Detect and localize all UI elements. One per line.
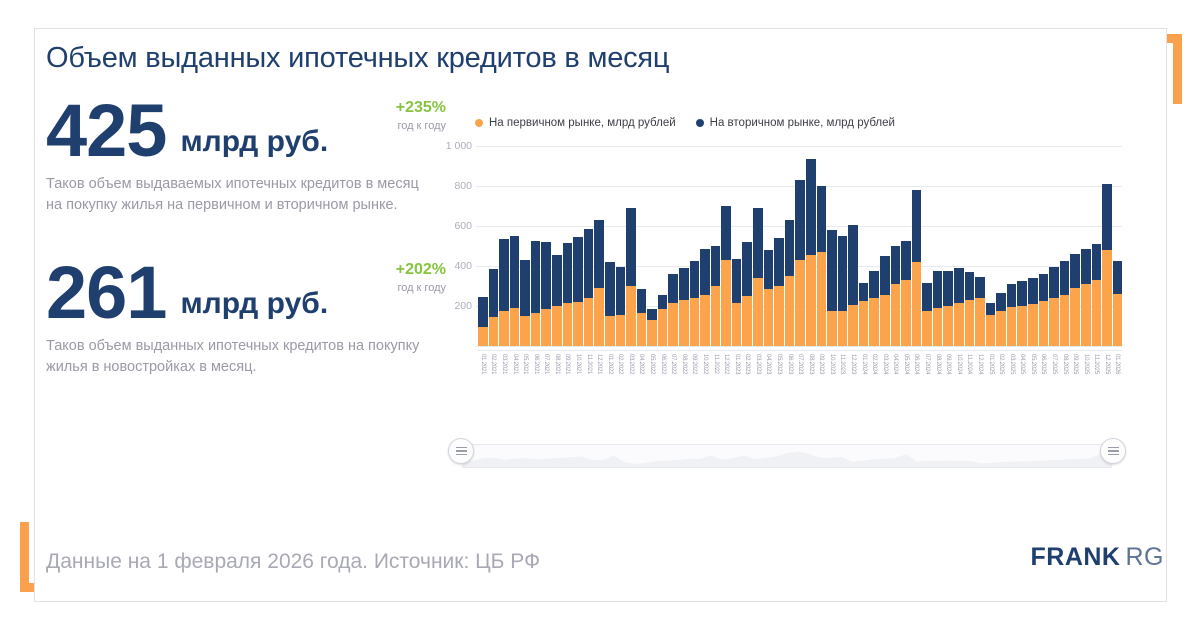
bar-column[interactable] bbox=[658, 295, 668, 346]
bar-segment-secondary-market bbox=[975, 277, 985, 298]
bar-column[interactable] bbox=[785, 220, 795, 346]
bar-segment-secondary-market bbox=[510, 236, 520, 308]
x-axis-tick: 08.2025 bbox=[1060, 354, 1070, 416]
bar-segment-primary-market bbox=[827, 311, 837, 346]
bar-column[interactable] bbox=[520, 260, 530, 346]
x-axis-tick: 04.2024 bbox=[891, 354, 901, 416]
bar-segment-secondary-market bbox=[922, 283, 932, 311]
bar-segment-primary-market bbox=[584, 298, 594, 346]
left-column: Объем выданных ипотечных кредитов в меся… bbox=[46, 42, 446, 377]
bar-column[interactable] bbox=[594, 220, 604, 346]
bar-segment-secondary-market bbox=[859, 283, 869, 301]
bar-column[interactable] bbox=[1060, 261, 1070, 346]
x-axis-tick: 12.2023 bbox=[848, 354, 858, 416]
bar-segment-secondary-market bbox=[1039, 274, 1049, 301]
bar-segment-primary-market bbox=[626, 286, 636, 346]
stat-value-total: 425 bbox=[46, 97, 166, 165]
bar-segment-secondary-market bbox=[986, 303, 996, 315]
bar-segment-secondary-market bbox=[478, 297, 488, 327]
stat-description-total: Таков объем выдаваемых ипотечных кредито… bbox=[46, 174, 428, 215]
legend-label: На первичном рынке, млрд рублей bbox=[489, 117, 676, 129]
bar-column[interactable] bbox=[1102, 184, 1112, 346]
bar-segment-primary-market bbox=[880, 295, 890, 346]
bar-segment-secondary-market bbox=[1028, 278, 1038, 304]
bar-column[interactable] bbox=[584, 229, 594, 346]
bar-segment-secondary-market bbox=[848, 225, 858, 305]
x-axis-tick: 02.2024 bbox=[869, 354, 879, 416]
bar-column[interactable] bbox=[996, 293, 1006, 346]
bar-segment-primary-market bbox=[721, 260, 731, 346]
bar-column[interactable] bbox=[541, 242, 551, 346]
bar-segment-primary-market bbox=[901, 280, 911, 346]
x-axis-tick: 11.2021 bbox=[584, 354, 594, 416]
bar-segment-primary-market bbox=[1081, 284, 1091, 346]
bar-column[interactable] bbox=[563, 243, 573, 346]
bar-segment-secondary-market bbox=[594, 220, 604, 288]
bar-segment-primary-market bbox=[986, 315, 996, 346]
bar-segment-secondary-market bbox=[647, 309, 657, 320]
stat-delta-percent-total: +235% bbox=[326, 99, 446, 117]
bar-column[interactable] bbox=[531, 241, 541, 346]
bar-segment-secondary-market bbox=[1102, 184, 1112, 250]
x-axis-tick: 02.2023 bbox=[742, 354, 752, 416]
legend-item-0[interactable]: На первичном рынке, млрд рублей bbox=[475, 117, 676, 129]
bar-segment-primary-market bbox=[954, 303, 964, 346]
x-axis-tick: 03.2025 bbox=[1007, 354, 1017, 416]
bar-segment-secondary-market bbox=[912, 190, 922, 262]
bar-segment-secondary-market bbox=[616, 267, 626, 315]
chart-panel: На первичном рынке, млрд рублейНа вторич… bbox=[440, 112, 1130, 492]
y-axis-tick-label: 400 bbox=[454, 260, 472, 272]
bar-column[interactable] bbox=[1049, 267, 1059, 346]
bar-segment-primary-market bbox=[1113, 294, 1123, 346]
bar-segment-secondary-market bbox=[943, 271, 953, 306]
x-axis-tick: 07.2022 bbox=[668, 354, 678, 416]
range-preview-sparkline bbox=[462, 445, 1112, 467]
frank-rg-logo: FRANKRG bbox=[1031, 543, 1165, 572]
x-axis-tick: 07.2023 bbox=[795, 354, 805, 416]
x-axis-tick: 06.2023 bbox=[785, 354, 795, 416]
bar-column[interactable] bbox=[933, 271, 943, 346]
x-axis-tick: 06.2025 bbox=[1039, 354, 1049, 416]
bar-segment-primary-market bbox=[838, 311, 848, 346]
bar-segment-secondary-market bbox=[1081, 249, 1091, 284]
bar-column[interactable] bbox=[817, 186, 827, 346]
bar-segment-primary-market bbox=[742, 296, 752, 346]
bar-segment-secondary-market bbox=[1017, 281, 1027, 306]
stat-delta-note-primary: год к году bbox=[326, 282, 446, 294]
bar-column[interactable] bbox=[711, 246, 721, 346]
page-title: Объем выданных ипотечных кредитов в меся… bbox=[46, 42, 446, 75]
bar-segment-primary-market bbox=[1007, 307, 1017, 346]
bar-segment-secondary-market bbox=[1113, 261, 1123, 294]
stat-block-primary: 261 млрд руб. +202% год к году Таков объ… bbox=[46, 259, 446, 377]
bar-column[interactable] bbox=[1017, 281, 1027, 346]
bar-column[interactable] bbox=[859, 283, 869, 346]
bar-segment-secondary-market bbox=[901, 241, 911, 280]
bar-segment-secondary-market bbox=[1070, 254, 1080, 288]
bar-segment-secondary-market bbox=[996, 293, 1006, 311]
bar-segment-secondary-market bbox=[753, 208, 763, 278]
bar-segment-primary-market bbox=[732, 303, 742, 346]
bar-segment-secondary-market bbox=[721, 206, 731, 260]
x-axis-tick: 09.2023 bbox=[817, 354, 827, 416]
x-axis-tick: 12.2022 bbox=[721, 354, 731, 416]
bar-segment-primary-market bbox=[616, 315, 626, 346]
bar-segment-secondary-market bbox=[965, 272, 975, 300]
x-axis-tick: 09.2025 bbox=[1070, 354, 1080, 416]
x-axis-tick: 10.2023 bbox=[827, 354, 837, 416]
x-axis-tick: 12.2025 bbox=[1102, 354, 1112, 416]
bar-segment-primary-market bbox=[996, 311, 1006, 346]
x-axis-tick: 01.2022 bbox=[605, 354, 615, 416]
bar-column[interactable] bbox=[848, 225, 858, 346]
bar-column[interactable] bbox=[901, 241, 911, 346]
bar-segment-secondary-market bbox=[838, 236, 848, 311]
bar-column[interactable] bbox=[986, 303, 996, 346]
bar-segment-primary-market bbox=[817, 252, 827, 346]
x-axis-tick: 01.2024 bbox=[859, 354, 869, 416]
stat-unit-total: млрд руб. bbox=[180, 125, 328, 165]
bar-column[interactable] bbox=[721, 206, 731, 346]
x-axis-tick: 11.2025 bbox=[1092, 354, 1102, 416]
x-axis-tick: 04.2021 bbox=[510, 354, 520, 416]
bar-segment-primary-market bbox=[848, 305, 858, 346]
x-axis-tick: 06.2022 bbox=[658, 354, 668, 416]
x-axis-tick: 06.2021 bbox=[531, 354, 541, 416]
bar-segment-primary-market bbox=[1060, 295, 1070, 346]
bar-segment-secondary-market bbox=[827, 230, 837, 311]
bar-column[interactable] bbox=[1092, 244, 1102, 346]
bar-segment-primary-market bbox=[1102, 250, 1112, 346]
x-axis-tick: 09.2022 bbox=[690, 354, 700, 416]
bar-column[interactable] bbox=[499, 239, 509, 346]
bar-column[interactable] bbox=[1007, 284, 1017, 346]
bar-segment-secondary-market bbox=[541, 242, 551, 309]
range-handle-left[interactable] bbox=[448, 438, 474, 464]
bar-column[interactable] bbox=[679, 268, 689, 346]
bar-column[interactable] bbox=[965, 272, 975, 346]
y-axis-tick-label: 1 000 bbox=[446, 140, 472, 152]
bar-column[interactable] bbox=[922, 283, 932, 346]
x-axis-tick: 07.2025 bbox=[1049, 354, 1059, 416]
bar-segment-secondary-market bbox=[700, 249, 710, 295]
bar-segment-secondary-market bbox=[764, 250, 774, 289]
footer-source-note: Данные на 1 февраля 2026 года. Источник:… bbox=[46, 550, 540, 574]
x-axis-tick: 10.2022 bbox=[700, 354, 710, 416]
bar-column[interactable] bbox=[637, 289, 647, 346]
bar-segment-primary-market bbox=[700, 295, 710, 346]
bar-column[interactable] bbox=[806, 159, 816, 346]
bar-segment-primary-market bbox=[912, 262, 922, 346]
bar-column[interactable] bbox=[668, 274, 678, 346]
bar-column[interactable] bbox=[573, 237, 583, 346]
x-axis-tick: 07.2024 bbox=[922, 354, 932, 416]
bar-column[interactable] bbox=[753, 208, 763, 346]
bar-segment-primary-market bbox=[679, 300, 689, 346]
x-axis-tick: 05.2025 bbox=[1028, 354, 1038, 416]
x-axis-tick: 06.2024 bbox=[912, 354, 922, 416]
bar-column[interactable] bbox=[478, 297, 488, 346]
stat-delta-total: +235% год к году bbox=[326, 99, 446, 132]
bar-column[interactable] bbox=[891, 246, 901, 346]
bar-segment-secondary-market bbox=[563, 243, 573, 303]
axis-baseline bbox=[476, 346, 1122, 347]
bar-segment-secondary-market bbox=[954, 268, 964, 303]
bar-segment-secondary-market bbox=[806, 159, 816, 255]
x-axis-tick: 01.2021 bbox=[478, 354, 488, 416]
bar-column[interactable] bbox=[552, 255, 562, 346]
bar-series-container bbox=[478, 146, 1122, 346]
x-axis-tick: 05.2022 bbox=[647, 354, 657, 416]
bar-segment-primary-market bbox=[1092, 280, 1102, 346]
bar-segment-secondary-market bbox=[732, 259, 742, 303]
bar-segment-secondary-market bbox=[499, 239, 509, 311]
bar-segment-secondary-market bbox=[817, 186, 827, 252]
x-axis-tick: 01.2026 bbox=[1113, 354, 1122, 416]
bar-column[interactable] bbox=[510, 236, 520, 346]
bar-segment-primary-market bbox=[943, 306, 953, 346]
x-axis-tick: 02.2025 bbox=[996, 354, 1006, 416]
bar-segment-secondary-market bbox=[1007, 284, 1017, 307]
bar-column[interactable] bbox=[943, 271, 953, 346]
x-axis-tick: 03.2024 bbox=[880, 354, 890, 416]
bar-column[interactable] bbox=[869, 271, 879, 346]
x-axis-tick: 01.2025 bbox=[986, 354, 996, 416]
bar-segment-primary-market bbox=[658, 309, 668, 346]
bar-segment-secondary-market bbox=[795, 180, 805, 260]
bar-segment-primary-market bbox=[764, 289, 774, 346]
x-axis-tick: 02.2021 bbox=[489, 354, 499, 416]
bar-segment-secondary-market bbox=[690, 261, 700, 298]
bar-segment-primary-market bbox=[605, 316, 615, 346]
bar-column[interactable] bbox=[742, 242, 752, 346]
bar-segment-primary-market bbox=[541, 309, 551, 346]
x-axis-tick: 12.2024 bbox=[975, 354, 985, 416]
y-axis-tick-label: 600 bbox=[454, 220, 472, 232]
bar-segment-secondary-market bbox=[679, 268, 689, 300]
x-axis-tick: 04.2022 bbox=[637, 354, 647, 416]
x-axis-tick: 08.2021 bbox=[552, 354, 562, 416]
x-axis-tick: 11.2022 bbox=[711, 354, 721, 416]
legend-dot-icon bbox=[696, 119, 704, 127]
x-axis-tick: 09.2024 bbox=[943, 354, 953, 416]
bar-segment-primary-market bbox=[637, 313, 647, 346]
bar-segment-primary-market bbox=[806, 255, 816, 346]
bar-segment-secondary-market bbox=[933, 271, 943, 308]
bar-column[interactable] bbox=[605, 262, 615, 346]
x-axis-tick: 02.2022 bbox=[616, 354, 626, 416]
bar-segment-secondary-market bbox=[1060, 261, 1070, 295]
bar-segment-primary-market bbox=[785, 276, 795, 346]
bar-column[interactable] bbox=[795, 180, 805, 346]
bar-segment-primary-market bbox=[795, 260, 805, 346]
stat-delta-primary: +202% год к году bbox=[326, 261, 446, 294]
bar-segment-secondary-market bbox=[742, 242, 752, 296]
bar-column[interactable] bbox=[774, 238, 784, 346]
bar-segment-primary-market bbox=[478, 327, 488, 346]
x-axis-tick: 08.2022 bbox=[679, 354, 689, 416]
x-axis-tick: 03.2023 bbox=[753, 354, 763, 416]
bar-segment-primary-market bbox=[668, 303, 678, 346]
logo-secondary-text: RG bbox=[1126, 543, 1165, 571]
bar-segment-secondary-market bbox=[1049, 267, 1059, 298]
bar-column[interactable] bbox=[1039, 274, 1049, 346]
bar-segment-secondary-market bbox=[1092, 244, 1102, 280]
bar-segment-primary-market bbox=[933, 308, 943, 346]
bar-segment-secondary-market bbox=[605, 262, 615, 316]
x-axis-tick: 03.2022 bbox=[626, 354, 636, 416]
bar-segment-primary-market bbox=[499, 311, 509, 346]
bar-column[interactable] bbox=[975, 277, 985, 346]
legend-dot-icon bbox=[475, 119, 483, 127]
x-axis-tick: 05.2021 bbox=[520, 354, 530, 416]
y-axis-tick-label: 800 bbox=[454, 180, 472, 192]
bar-segment-primary-market bbox=[573, 302, 583, 346]
x-axis-tick: 11.2024 bbox=[965, 354, 975, 416]
bar-column[interactable] bbox=[489, 269, 499, 346]
bar-segment-primary-market bbox=[975, 298, 985, 346]
bar-column[interactable] bbox=[732, 259, 742, 346]
bar-segment-secondary-market bbox=[658, 295, 668, 309]
bar-column[interactable] bbox=[954, 268, 964, 346]
bar-segment-secondary-market bbox=[637, 289, 647, 313]
bar-segment-primary-market bbox=[859, 301, 869, 346]
bar-segment-primary-market bbox=[594, 288, 604, 346]
x-axis-tick: 12.2021 bbox=[594, 354, 604, 416]
x-axis-tick: 10.2025 bbox=[1081, 354, 1091, 416]
x-axis: 01.202102.202103.202104.202105.202106.20… bbox=[478, 350, 1122, 416]
bar-segment-primary-market bbox=[690, 298, 700, 346]
bar-segment-secondary-market bbox=[880, 256, 890, 295]
bar-segment-primary-market bbox=[711, 286, 721, 346]
x-axis-tick: 05.2023 bbox=[774, 354, 784, 416]
bar-column[interactable] bbox=[700, 249, 710, 346]
x-axis-tick: 11.2023 bbox=[838, 354, 848, 416]
y-axis-tick-label: 200 bbox=[454, 300, 472, 312]
bar-column[interactable] bbox=[1028, 278, 1038, 346]
bar-column[interactable] bbox=[626, 208, 636, 346]
range-slider-track[interactable] bbox=[462, 444, 1112, 468]
bar-segment-primary-market bbox=[774, 286, 784, 346]
bar-column[interactable] bbox=[827, 230, 837, 346]
x-axis-tick: 05.2024 bbox=[901, 354, 911, 416]
bar-segment-secondary-market bbox=[573, 237, 583, 302]
x-axis-tick: 07.2021 bbox=[541, 354, 551, 416]
bar-segment-primary-market bbox=[922, 311, 932, 346]
bar-segment-primary-market bbox=[552, 306, 562, 346]
logo-primary-text: FRANK bbox=[1031, 543, 1121, 571]
bar-column[interactable] bbox=[616, 267, 626, 346]
bar-segment-secondary-market bbox=[626, 208, 636, 286]
bar-column[interactable] bbox=[880, 256, 890, 346]
stat-description-primary: Таков объем выданных ипотечных кредитов … bbox=[46, 336, 428, 377]
bar-segment-secondary-market bbox=[869, 271, 879, 298]
bar-segment-secondary-market bbox=[668, 274, 678, 303]
bar-segment-primary-market bbox=[520, 316, 530, 346]
x-axis-tick: 04.2023 bbox=[764, 354, 774, 416]
bar-column[interactable] bbox=[647, 309, 657, 346]
bar-segment-primary-market bbox=[647, 320, 657, 346]
bar-column[interactable] bbox=[838, 236, 848, 346]
bar-segment-secondary-market bbox=[584, 229, 594, 298]
bar-column[interactable] bbox=[912, 190, 922, 346]
bar-segment-secondary-market bbox=[785, 220, 795, 276]
x-axis-tick: 08.2024 bbox=[933, 354, 943, 416]
x-axis-tick: 03.2021 bbox=[499, 354, 509, 416]
bar-column[interactable] bbox=[764, 250, 774, 346]
chart-range-slider[interactable] bbox=[448, 438, 1126, 472]
bar-segment-secondary-market bbox=[711, 246, 721, 286]
x-axis-tick: 10.2021 bbox=[573, 354, 583, 416]
bar-segment-primary-market bbox=[1028, 304, 1038, 346]
x-axis-tick: 04.2025 bbox=[1017, 354, 1027, 416]
stat-delta-note-total: год к году bbox=[326, 120, 446, 132]
bar-segment-secondary-market bbox=[489, 269, 499, 317]
x-axis-tick: 01.2023 bbox=[732, 354, 742, 416]
x-axis-tick: 10.2024 bbox=[954, 354, 964, 416]
bar-column[interactable] bbox=[1070, 254, 1080, 346]
bar-column[interactable] bbox=[1081, 249, 1091, 346]
stat-unit-primary: млрд руб. bbox=[180, 287, 328, 327]
bar-segment-primary-market bbox=[891, 284, 901, 346]
stat-delta-percent-primary: +202% bbox=[326, 261, 446, 279]
x-axis-tick: 09.2021 bbox=[563, 354, 573, 416]
chart-plot-area: 2004006008001 000 01.202102.202103.20210… bbox=[440, 146, 1130, 356]
x-axis-tick: 08.2023 bbox=[806, 354, 816, 416]
range-handle-right[interactable] bbox=[1100, 438, 1126, 464]
chart-legend: На первичном рынке, млрд рублейНа вторич… bbox=[440, 112, 1130, 134]
bar-segment-secondary-market bbox=[552, 255, 562, 306]
infographic-page: Объем выданных ипотечных кредитов в меся… bbox=[0, 0, 1200, 630]
bar-segment-primary-market bbox=[1070, 288, 1080, 346]
bar-segment-primary-market bbox=[1039, 301, 1049, 346]
bar-segment-primary-market bbox=[1049, 298, 1059, 346]
bar-segment-primary-market bbox=[563, 303, 573, 346]
y-axis: 2004006008001 000 bbox=[440, 146, 476, 346]
bar-segment-primary-market bbox=[965, 300, 975, 346]
bar-segment-secondary-market bbox=[531, 241, 541, 313]
bar-column[interactable] bbox=[690, 261, 700, 346]
bar-segment-secondary-market bbox=[891, 246, 901, 284]
legend-label: На вторичном рынке, млрд рублей bbox=[710, 117, 895, 129]
bar-segment-secondary-market bbox=[520, 260, 530, 316]
stat-value-primary: 261 bbox=[46, 259, 166, 327]
bar-segment-primary-market bbox=[1017, 306, 1027, 346]
legend-item-1[interactable]: На вторичном рынке, млрд рублей bbox=[696, 117, 895, 129]
bar-segment-secondary-market bbox=[774, 238, 784, 286]
bar-segment-primary-market bbox=[510, 308, 520, 346]
bar-segment-primary-market bbox=[531, 313, 541, 346]
stat-block-total: 425 млрд руб. +235% год к году Таков объ… bbox=[46, 97, 446, 215]
bar-segment-primary-market bbox=[869, 298, 879, 346]
bar-segment-primary-market bbox=[489, 317, 499, 346]
bar-segment-primary-market bbox=[753, 278, 763, 346]
bar-column[interactable] bbox=[1113, 261, 1123, 346]
